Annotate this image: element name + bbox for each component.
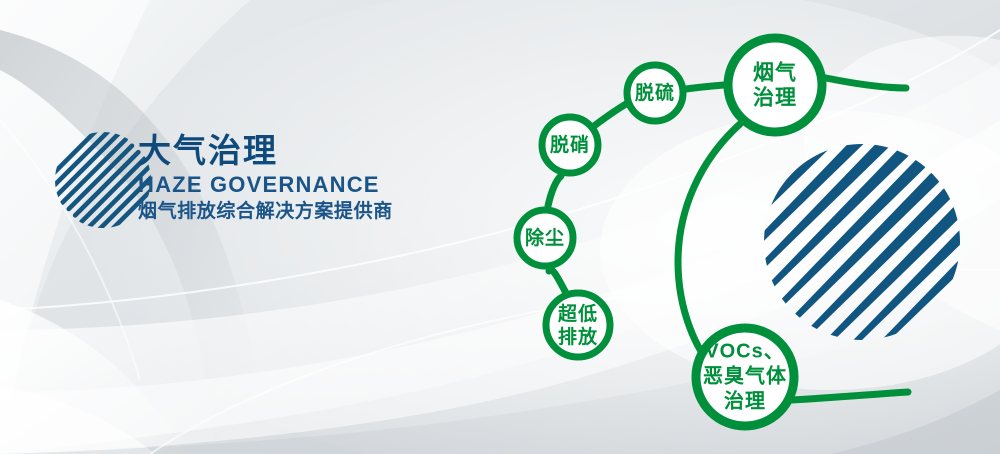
headline-block: 大气治理 HAZE GOVERNANCE 烟气排放综合解决方案提供商 — [138, 131, 393, 225]
banner-root: 大气治理 HAZE GOVERNANCE 烟气排放综合解决方案提供商 超低 — [0, 0, 1000, 454]
hatch-circle-right — [716, 100, 998, 382]
page-subtitle: 烟气排放综合解决方案提供商 — [138, 199, 393, 225]
page-title-en: HAZE GOVERNANCE — [138, 171, 393, 198]
page-title: 大气治理 — [138, 131, 393, 171]
decor-hatches — [0, 0, 1000, 454]
